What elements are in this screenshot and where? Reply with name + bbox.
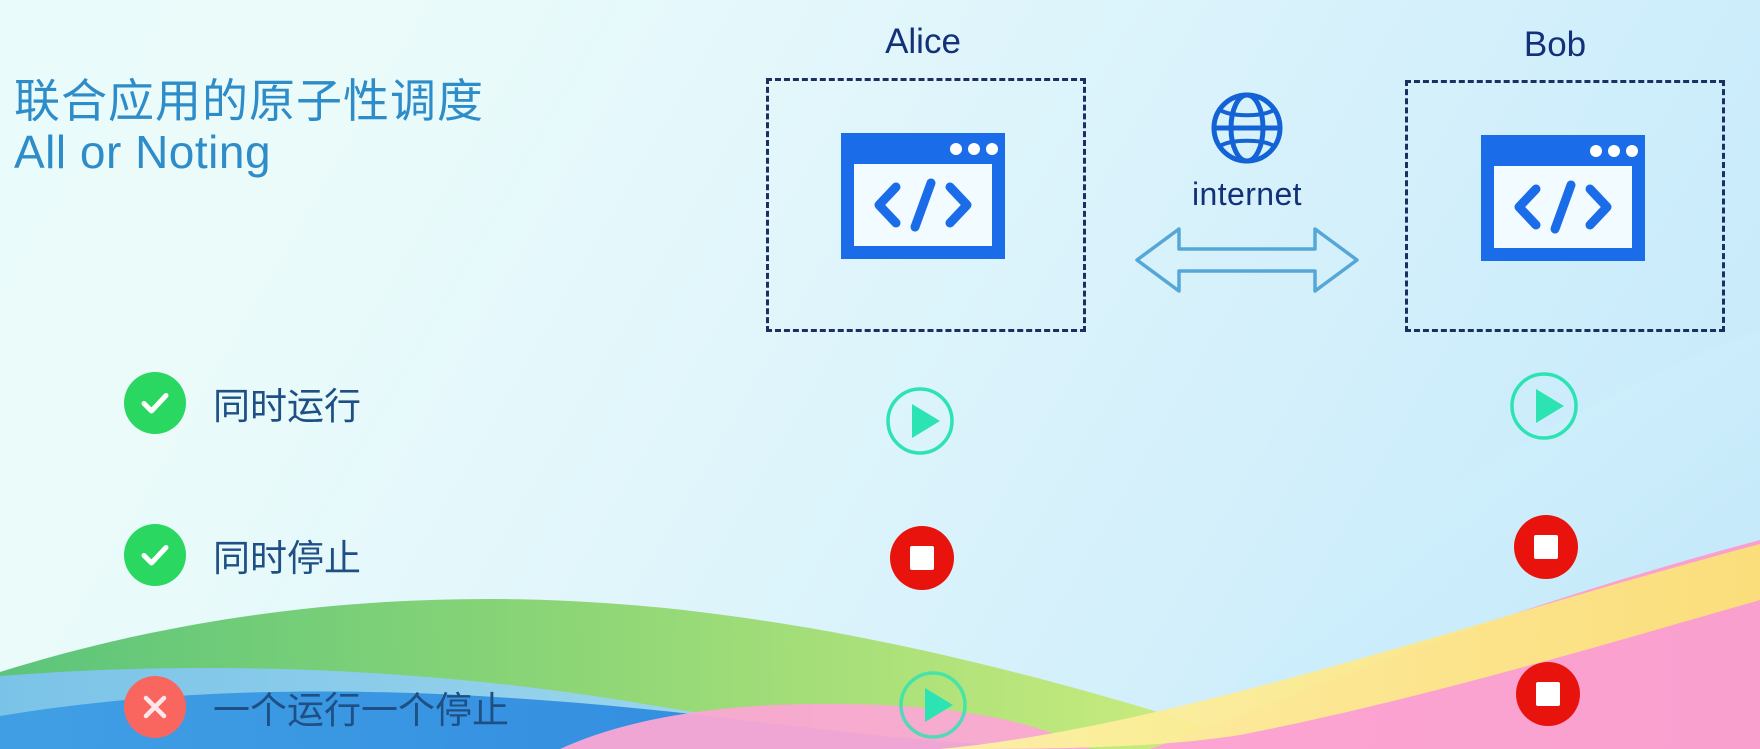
stop-filled-icon	[1514, 660, 1582, 728]
checklist-item-label: 同时停止	[213, 528, 361, 582]
internet-link-group: internet	[1127, 88, 1367, 297]
check-circle-icon	[124, 524, 186, 586]
play-outline-icon	[1508, 370, 1580, 442]
check-circle-icon	[124, 372, 186, 434]
peer-label-alice: Alice	[763, 22, 1083, 62]
play-outline-icon	[884, 385, 956, 457]
globe-icon	[1127, 88, 1367, 168]
checklist-item-split: 一个运行一个停止	[124, 676, 509, 738]
double-arrow-icon	[1127, 223, 1367, 297]
checklist: 同时运行 同时停止 一个运行一个停止	[124, 372, 509, 738]
play-outline-icon	[897, 669, 969, 741]
slide-title: 联合应用的原子性调度 All or Noting	[14, 78, 484, 176]
peer-label-bob: Bob	[1395, 25, 1715, 65]
code-window-icon	[838, 130, 1008, 262]
internet-label: internet	[1127, 176, 1367, 213]
code-window-icon	[1478, 132, 1648, 264]
title-english: All or Noting	[14, 129, 484, 176]
title-chinese: 联合应用的原子性调度	[14, 78, 484, 125]
slide-canvas: 联合应用的原子性调度 All or Noting 同时运行 同时停止	[0, 0, 1760, 749]
checklist-item-both-stop: 同时停止	[124, 524, 509, 586]
checklist-item-label: 一个运行一个停止	[213, 680, 509, 734]
cross-circle-icon	[124, 676, 186, 738]
checklist-item-label: 同时运行	[213, 376, 361, 430]
stop-filled-icon	[888, 524, 956, 592]
checklist-item-both-run: 同时运行	[124, 372, 509, 434]
stop-filled-icon	[1512, 513, 1580, 581]
